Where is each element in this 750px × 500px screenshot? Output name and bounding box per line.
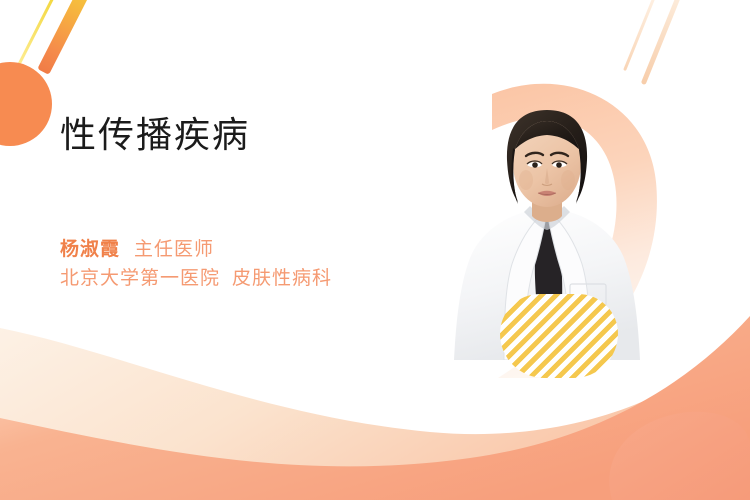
orange-circle-icon xyxy=(0,62,52,146)
pale-diagonal-stripe-icon xyxy=(641,0,685,85)
presenter-department: 皮肤性病科 xyxy=(232,268,332,289)
presenter-affiliation-row: 北京大学第一医院皮肤性病科 xyxy=(60,264,460,293)
pale-diagonal-stripe-icon xyxy=(623,0,662,71)
orange-diagonal-stripe-icon xyxy=(37,0,99,75)
yellow-diagonal-stripe-icon xyxy=(12,0,64,77)
presenter-name-row: 杨淑霞主任医师 xyxy=(60,235,460,264)
doctor-portrait xyxy=(452,88,642,360)
presenter-job-title: 主任医师 xyxy=(134,239,214,260)
presenter-name: 杨淑霞 xyxy=(60,239,120,260)
presenter-hospital: 北京大学第一医院 xyxy=(60,268,220,289)
page-title: 性传播疾病 xyxy=(60,112,460,157)
slide-text-block: 性传播疾病 杨淑霞主任医师 北京大学第一医院皮肤性病科 xyxy=(60,112,460,294)
presentation-slide: 性传播疾病 杨淑霞主任医师 北京大学第一医院皮肤性病科 xyxy=(0,0,750,500)
presenter-credits: 杨淑霞主任医师 北京大学第一医院皮肤性病科 xyxy=(60,235,460,294)
